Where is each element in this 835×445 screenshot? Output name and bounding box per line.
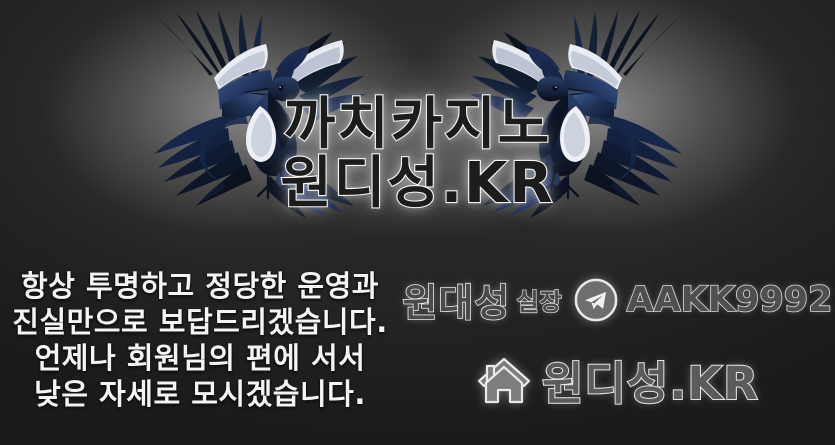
logo-title: 까치카지노 원디성.KR — [0, 96, 835, 212]
telegram-contact-row[interactable]: 원대성 실장 AAKK9992 — [400, 272, 835, 327]
slogan-line: 진실만으로 보답드리겠습니다. — [0, 304, 400, 340]
website-row[interactable]: 원디성.KR — [400, 347, 835, 412]
telegram-icon[interactable] — [573, 277, 619, 323]
manager-name: 원대성 — [403, 272, 511, 327]
telegram-handle[interactable]: AAKK9992 — [627, 280, 833, 320]
logo-title-line-2: 원디성.KR — [0, 155, 835, 212]
home-icon — [476, 354, 532, 406]
casino-promo-banner: 까치카지노 원디성.KR 항상 투명하고 정당한 운영과 진실만으로 보답드리겠… — [0, 0, 835, 445]
bottom-section: 항상 투명하고 정당한 운영과 진실만으로 보답드리겠습니다. 언제나 회원님의… — [0, 258, 835, 445]
slogan-block: 항상 투명하고 정당한 운영과 진실만으로 보답드리겠습니다. 언제나 회원님의… — [0, 258, 400, 412]
site-url[interactable]: 원디성.KR — [542, 347, 759, 412]
slogan-line: 낮은 자세로 모시겠습니다. — [0, 376, 400, 412]
manager-title: 실장 — [516, 282, 562, 317]
slogan-line: 언제나 회원님의 편에 서서 — [0, 340, 400, 376]
contact-block: 원대성 실장 AAKK9992 — [400, 258, 835, 412]
slogan-line: 항상 투명하고 정당한 운영과 — [0, 268, 400, 304]
logo-title-line-1: 까치카지노 — [0, 96, 835, 153]
